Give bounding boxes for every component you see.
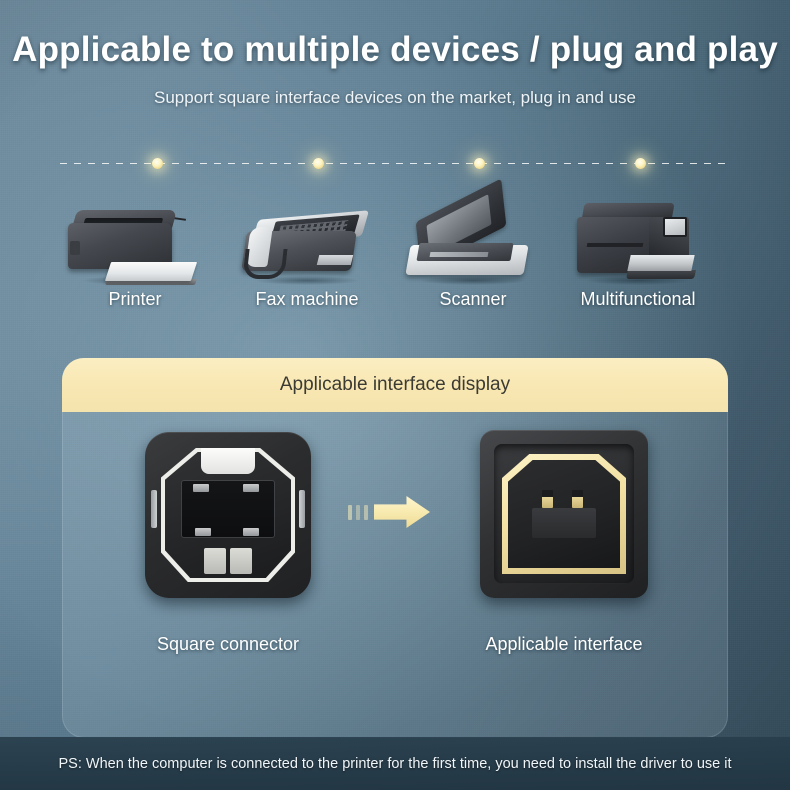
device-multifunctional: Multifunctional <box>553 195 723 310</box>
device-label-scanner: Scanner <box>388 289 558 310</box>
divider-dot-3 <box>474 158 485 169</box>
connector-pad-3 <box>195 528 211 536</box>
device-label-multifunctional: Multifunctional <box>553 289 723 310</box>
device-printer: Printer <box>50 195 220 310</box>
applicable-interface-image <box>480 430 648 598</box>
arrow-motion-line-1 <box>348 505 352 520</box>
panel-header: Applicable interface display <box>62 358 728 412</box>
footer-note: PS: When the computer is connected to th… <box>59 756 732 772</box>
square-connector-label: Square connector <box>108 634 348 655</box>
connector-pad-2 <box>243 484 259 492</box>
square-connector-image <box>145 432 311 598</box>
page-subtitle: Support square interface devices on the … <box>0 88 790 108</box>
multifunctional-slot <box>587 243 644 247</box>
connector-foot-2 <box>230 548 252 574</box>
printer-side-vent <box>70 241 80 255</box>
connector-pad-1 <box>193 484 209 492</box>
printer-paper-tray <box>105 262 197 281</box>
connector-clip-right <box>299 490 305 528</box>
device-label-fax-machine: Fax machine <box>222 289 392 310</box>
scanner-shadow <box>421 276 525 285</box>
arrow-right-icon <box>348 490 440 534</box>
interface-display-panel: Applicable interface display <box>62 358 728 738</box>
arrow-body <box>374 496 430 528</box>
divider-dot-2 <box>313 158 324 169</box>
panel-body: Square connector Applicable interface <box>62 412 728 738</box>
infographic-page: Applicable to multiple devices / plug an… <box>0 0 790 790</box>
connector-top-tab <box>201 448 255 474</box>
arrow-motion-line-3 <box>364 505 368 520</box>
panel-title: Applicable interface display <box>280 374 510 396</box>
divider-dot-1 <box>152 158 163 169</box>
fax-paper-tray <box>317 255 353 265</box>
dotted-divider <box>60 163 730 165</box>
port-pin-1 <box>542 490 553 508</box>
fax-handset <box>242 249 287 279</box>
port-pin-2 <box>572 490 583 508</box>
printer-icon <box>50 195 220 287</box>
scanner-light-bar <box>430 252 489 257</box>
device-scanner: Scanner <box>388 195 558 310</box>
multifunctional-tray-base <box>626 270 696 279</box>
multifunctional-icon <box>553 195 723 287</box>
connector-foot-1 <box>204 548 226 574</box>
fax-machine-icon <box>222 195 392 287</box>
multifunctional-paper-tray <box>627 255 694 271</box>
connector-clip-left <box>151 490 157 528</box>
divider-dot-4 <box>635 158 646 169</box>
page-title: Applicable to multiple devices / plug an… <box>0 30 790 70</box>
device-fax-machine: Fax machine <box>222 195 392 310</box>
arrow-motion-line-2 <box>356 505 360 520</box>
scanner-icon <box>388 195 558 287</box>
device-label-printer: Printer <box>50 289 220 310</box>
connector-pad-4 <box>243 528 259 536</box>
applicable-interface-label: Applicable interface <box>444 634 684 655</box>
footer-note-bar: PS: When the computer is connected to th… <box>0 737 790 790</box>
port-contact-block <box>532 508 596 538</box>
multifunctional-display <box>663 217 687 237</box>
device-row: Printer Fax machine <box>0 195 790 325</box>
